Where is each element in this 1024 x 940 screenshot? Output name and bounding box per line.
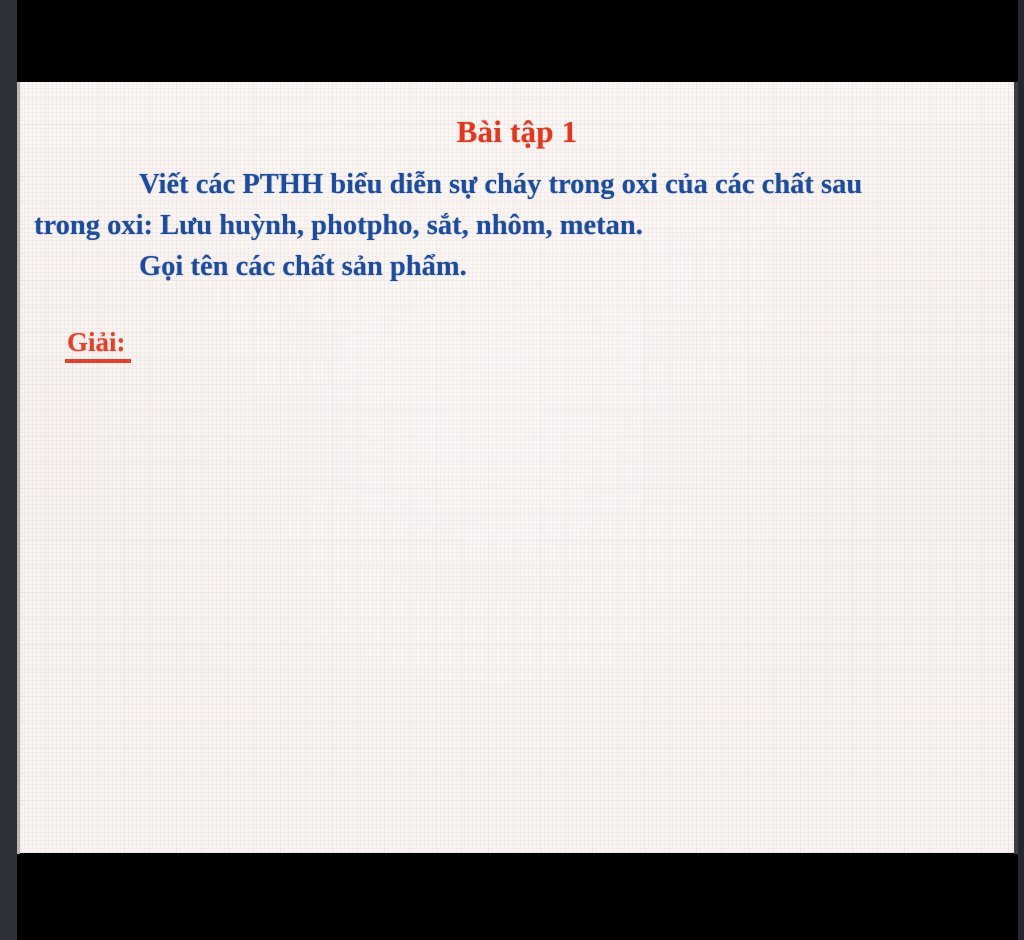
page-title: Bài tập 1 [20,82,1014,150]
problem-line-3-text: Gọi tên các chất sản phẩm. [139,251,467,282]
photo-frame: Bài tập 1 Viết các PTHH biểu diễn sự chá… [0,0,1024,940]
solution-label: Giải: [65,327,131,363]
bezel-right [1018,0,1024,940]
problem-line-1: Viết các PTHH biểu diễn sự cháy trong ox… [34,164,996,205]
bezel-right-highlight [1014,82,1018,854]
problem-line-1-text: Viết các PTHH biểu diễn sự cháy trong ox… [139,169,862,200]
letterbox-top [0,0,1024,82]
problem-line-2-text: trong oxi: Lưu huỳnh, photpho, sắt, nhôm… [34,210,643,241]
solution-section: Giải: [20,327,1014,363]
bezel-left [0,0,17,940]
problem-statement: Viết các PTHH biểu diễn sự cháy trong ox… [20,164,1014,287]
answer-blank-area [20,363,1014,793]
problem-line-2: trong oxi: Lưu huỳnh, photpho, sắt, nhôm… [34,205,996,246]
problem-line-3: Gọi tên các chất sản phẩm. [34,246,996,287]
letterbox-bottom [0,853,1024,940]
slide-content: Bài tập 1 Viết các PTHH biểu diễn sự chá… [20,82,1014,793]
slide-paper: Bài tập 1 Viết các PTHH biểu diễn sự chá… [20,82,1014,853]
bezel-left-highlight [17,82,20,854]
